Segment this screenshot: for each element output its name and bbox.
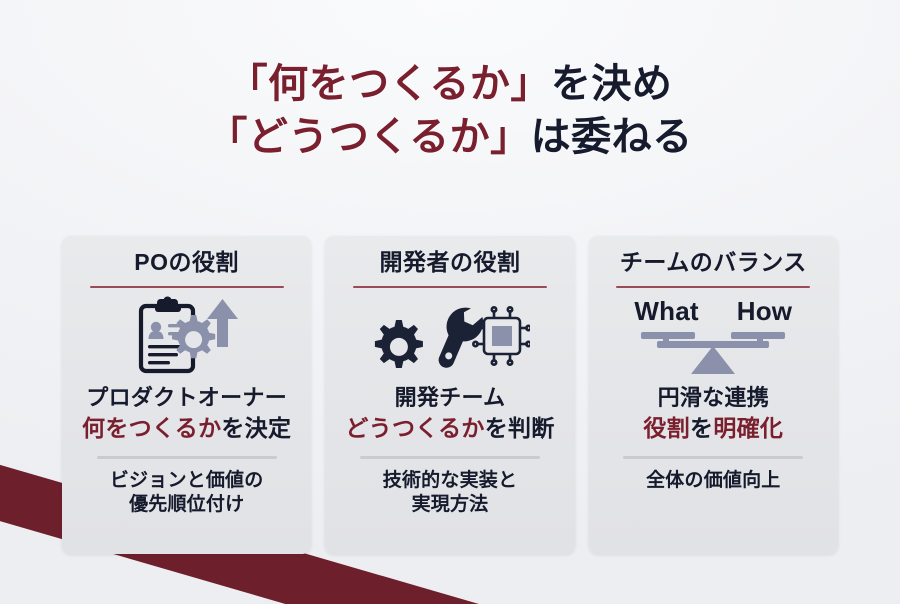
label-main-po: プロダクトオーナー [82, 384, 291, 412]
scale-right-label: How [737, 296, 792, 327]
header-divider [90, 286, 284, 288]
card-labels-developer: 開発チーム どうつくるかを判断 [345, 384, 554, 443]
header-divider [353, 286, 547, 288]
card-header-po: POの役割 [134, 250, 239, 275]
label-sub-balance-red: 役割 [643, 415, 690, 441]
footer-divider [97, 456, 277, 459]
card-developer-role[interactable]: 開発者の役割 [325, 236, 574, 554]
title-line1-rest: を決め [551, 62, 673, 106]
label-sub-balance-red2: 明確化 [713, 415, 783, 441]
card-footer-developer: 技術的な実装と 実現方法 [383, 469, 517, 518]
label-sub-po: 何をつくるかを決定 [82, 414, 291, 443]
footer-line-1: ビジョンと価値の [110, 469, 264, 493]
footer-line-2: 実現方法 [383, 493, 517, 517]
footer-divider [623, 456, 803, 459]
footer-line-1: 技術的な実装と [383, 469, 517, 493]
scale-labels: What How [634, 296, 792, 327]
card-footer-po: ビジョンと価値の 優先順位付け [110, 469, 264, 518]
card-labels-balance: 円滑な連携 役割を明確化 [643, 384, 783, 443]
header-divider [616, 286, 810, 288]
label-main-balance: 円滑な連携 [643, 384, 783, 412]
footer-divider [360, 456, 540, 459]
scale-left-label: What [634, 296, 698, 327]
page-title: 「何をつくるか」を決め 「どうつくるか」は委ねる [0, 58, 900, 164]
card-header-balance: チームのバランス [620, 250, 807, 275]
title-line2-quoted: 「どうつくるか」 [207, 115, 530, 159]
footer-line-1: 全体の価値向上 [646, 469, 780, 493]
label-sub-balance-navy: を [690, 415, 713, 441]
card-labels-po: プロダクトオーナー 何をつくるかを決定 [82, 384, 291, 443]
slide-canvas: 「何をつくるか」を決め 「どうつくるか」は委ねる POの役割 [0, 0, 900, 604]
label-sub-developer-navy: を判断 [485, 415, 555, 441]
title-line1-quoted: 「何をつくるか」 [228, 62, 551, 106]
label-sub-po-red: 何をつくるか [82, 415, 221, 441]
title-line2-rest: は委ねる [531, 115, 693, 159]
label-sub-developer-red: どうつくるか [345, 415, 484, 441]
label-sub-developer: どうつくるかを判断 [345, 414, 554, 443]
card-header-developer: 開発者の役割 [379, 250, 520, 275]
label-sub-balance: 役割を明確化 [643, 414, 783, 443]
card-row: POの役割 [62, 236, 838, 554]
footer-line-2: 優先順位付け [110, 493, 264, 517]
balance-scale-icon: What How [601, 288, 826, 384]
card-po-role[interactable]: POの役割 [62, 236, 311, 554]
card-footer-balance: 全体の価値向上 [646, 469, 780, 493]
label-main-developer: 開発チーム [345, 384, 554, 412]
card-team-balance[interactable]: チームのバランス What How [589, 236, 838, 554]
clipboard-gear-arrow-icon [74, 288, 299, 384]
gear-wrench-chip-icon [337, 288, 562, 384]
label-sub-po-navy: を決定 [221, 415, 291, 441]
